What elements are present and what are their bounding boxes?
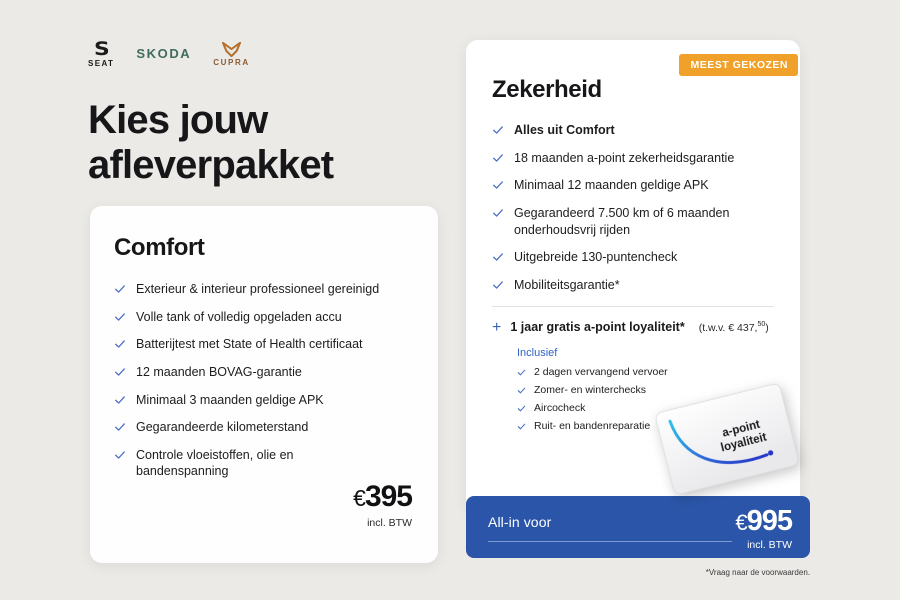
status-badge: MEEST GEKOZEN xyxy=(679,54,798,76)
list-item: Batterijtest met State of Health certifi… xyxy=(114,336,414,353)
comfort-price-block: €395 incl. BTW xyxy=(353,482,412,529)
feature-label: Mobiliteitsgarantie* xyxy=(514,277,620,294)
list-item: Volle tank of volledig opgeladen accu xyxy=(114,309,414,326)
feature-label: Batterijtest met State of Health certifi… xyxy=(136,336,363,353)
price-amount: 395 xyxy=(365,480,412,513)
bonus-row: + 1 jaar gratis a-point loyaliteit* (t.w… xyxy=(492,319,774,335)
feature-label: Minimaal 12 maanden geldige APK xyxy=(514,177,709,194)
included-label-item: 2 dagen vervangend vervoer xyxy=(534,366,668,378)
list-item: Gegarandeerd 7.500 km of 6 maanden onder… xyxy=(492,205,774,238)
list-item: 12 maanden BOVAG-garantie xyxy=(114,364,414,381)
feature-label: Gegarandeerde kilometerstand xyxy=(136,419,308,436)
list-item: Uitgebreide 130-puntencheck xyxy=(492,249,774,266)
comfort-price-note: incl. BTW xyxy=(353,517,412,529)
feature-label: Alles uit Comfort xyxy=(514,122,615,139)
feature-label: 12 maanden BOVAG-garantie xyxy=(136,364,302,381)
included-label: Inclusief xyxy=(517,347,774,359)
list-item: Controle vloeistoffen, olie en bandenspa… xyxy=(114,447,414,480)
check-icon xyxy=(114,421,126,433)
currency-symbol: € xyxy=(735,510,746,535)
check-icon xyxy=(114,283,126,295)
seat-mark-icon: S xyxy=(94,40,109,59)
divider xyxy=(488,541,732,542)
list-item: Minimaal 12 maanden geldige APK xyxy=(492,177,774,194)
check-icon xyxy=(492,251,504,263)
bonus-value-note: (t.w.v. € 437,50) xyxy=(699,321,769,334)
feature-label: Minimaal 3 maanden geldige APK xyxy=(136,392,324,409)
plus-icon: + xyxy=(492,320,501,336)
allin-price-bar[interactable]: All-in voor €995 incl. BTW xyxy=(466,496,810,558)
check-icon xyxy=(114,366,126,378)
list-item: Exterieur & interieur professioneel gere… xyxy=(114,281,414,298)
included-label-item: Ruit- en bandenreparatie xyxy=(534,420,650,432)
zekerheid-feature-list: Alles uit Comfort 18 maanden a-point zek… xyxy=(492,122,774,293)
included-label-item: Aircocheck xyxy=(534,402,585,414)
check-icon xyxy=(114,311,126,323)
check-icon xyxy=(517,404,526,413)
page-title-line1: Kies jouw xyxy=(88,98,268,142)
currency-symbol: € xyxy=(353,485,365,511)
check-icon xyxy=(114,449,126,461)
check-icon xyxy=(492,124,504,136)
cupra-logo: CUPRA xyxy=(213,42,249,67)
zekerheid-card-title: Zekerheid xyxy=(492,76,774,104)
check-icon xyxy=(492,279,504,291)
list-item: 2 dagen vervangend vervoer xyxy=(517,366,774,378)
list-item: Gegarandeerde kilometerstand xyxy=(114,419,414,436)
seat-logo: S SEAT xyxy=(88,40,114,68)
feature-label: 18 maanden a-point zekerheidsgarantie xyxy=(514,150,734,167)
zekerheid-price-note: incl. BTW xyxy=(747,539,792,551)
footnote: *Vraag naar de voorwaarden. xyxy=(706,568,810,577)
list-item: 18 maanden a-point zekerheidsgarantie xyxy=(492,150,774,167)
list-item: Mobiliteitsgarantie* xyxy=(492,277,774,294)
check-icon xyxy=(517,386,526,395)
seat-logo-label: SEAT xyxy=(88,60,114,68)
cupra-mark-icon xyxy=(222,42,241,57)
comfort-feature-list: Exterieur & interieur professioneel gere… xyxy=(114,281,414,480)
feature-label: Exterieur & interieur professioneel gere… xyxy=(136,281,379,298)
divider xyxy=(492,306,774,307)
list-item: Alles uit Comfort xyxy=(492,122,774,139)
check-icon xyxy=(517,422,526,431)
comfort-price: €395 xyxy=(353,482,412,512)
allin-label: All-in voor xyxy=(488,514,551,530)
zekerheid-price: €995 xyxy=(735,507,792,536)
page-title-line2: afleverpakket xyxy=(88,143,333,187)
list-item: Minimaal 3 maanden geldige APK xyxy=(114,392,414,409)
feature-label: Gegarandeerd 7.500 km of 6 maanden onder… xyxy=(514,205,774,238)
check-icon xyxy=(114,338,126,350)
feature-label: Volle tank of volledig opgeladen accu xyxy=(136,309,342,326)
check-icon xyxy=(114,394,126,406)
check-icon xyxy=(492,179,504,191)
comfort-card-title: Comfort xyxy=(114,234,414,262)
page-title: Kies jouw afleverpakket xyxy=(88,98,418,188)
feature-label: Uitgebreide 130-puntencheck xyxy=(514,249,677,266)
bonus-title: 1 jaar gratis a-point loyaliteit* xyxy=(510,320,684,334)
promo-page: S SEAT SKODA CUPRA Kies jouw afleverpakk… xyxy=(0,0,900,600)
brand-logo-row: S SEAT SKODA CUPRA xyxy=(88,40,250,68)
cupra-logo-label: CUPRA xyxy=(213,59,249,67)
bonus-note-suffix: ) xyxy=(765,322,769,334)
check-icon xyxy=(517,368,526,377)
bonus-note-prefix: (t.w.v. € 437, xyxy=(699,322,758,334)
check-icon xyxy=(492,152,504,164)
comfort-package-card[interactable]: Comfort Exterieur & interieur profession… xyxy=(90,206,438,563)
included-label-item: Zomer- en winterchecks xyxy=(534,384,646,396)
feature-label: Controle vloeistoffen, olie en bandenspa… xyxy=(136,447,386,480)
price-amount: 995 xyxy=(747,505,792,537)
check-icon xyxy=(492,207,504,219)
skoda-logo-label: SKODA xyxy=(136,47,191,60)
